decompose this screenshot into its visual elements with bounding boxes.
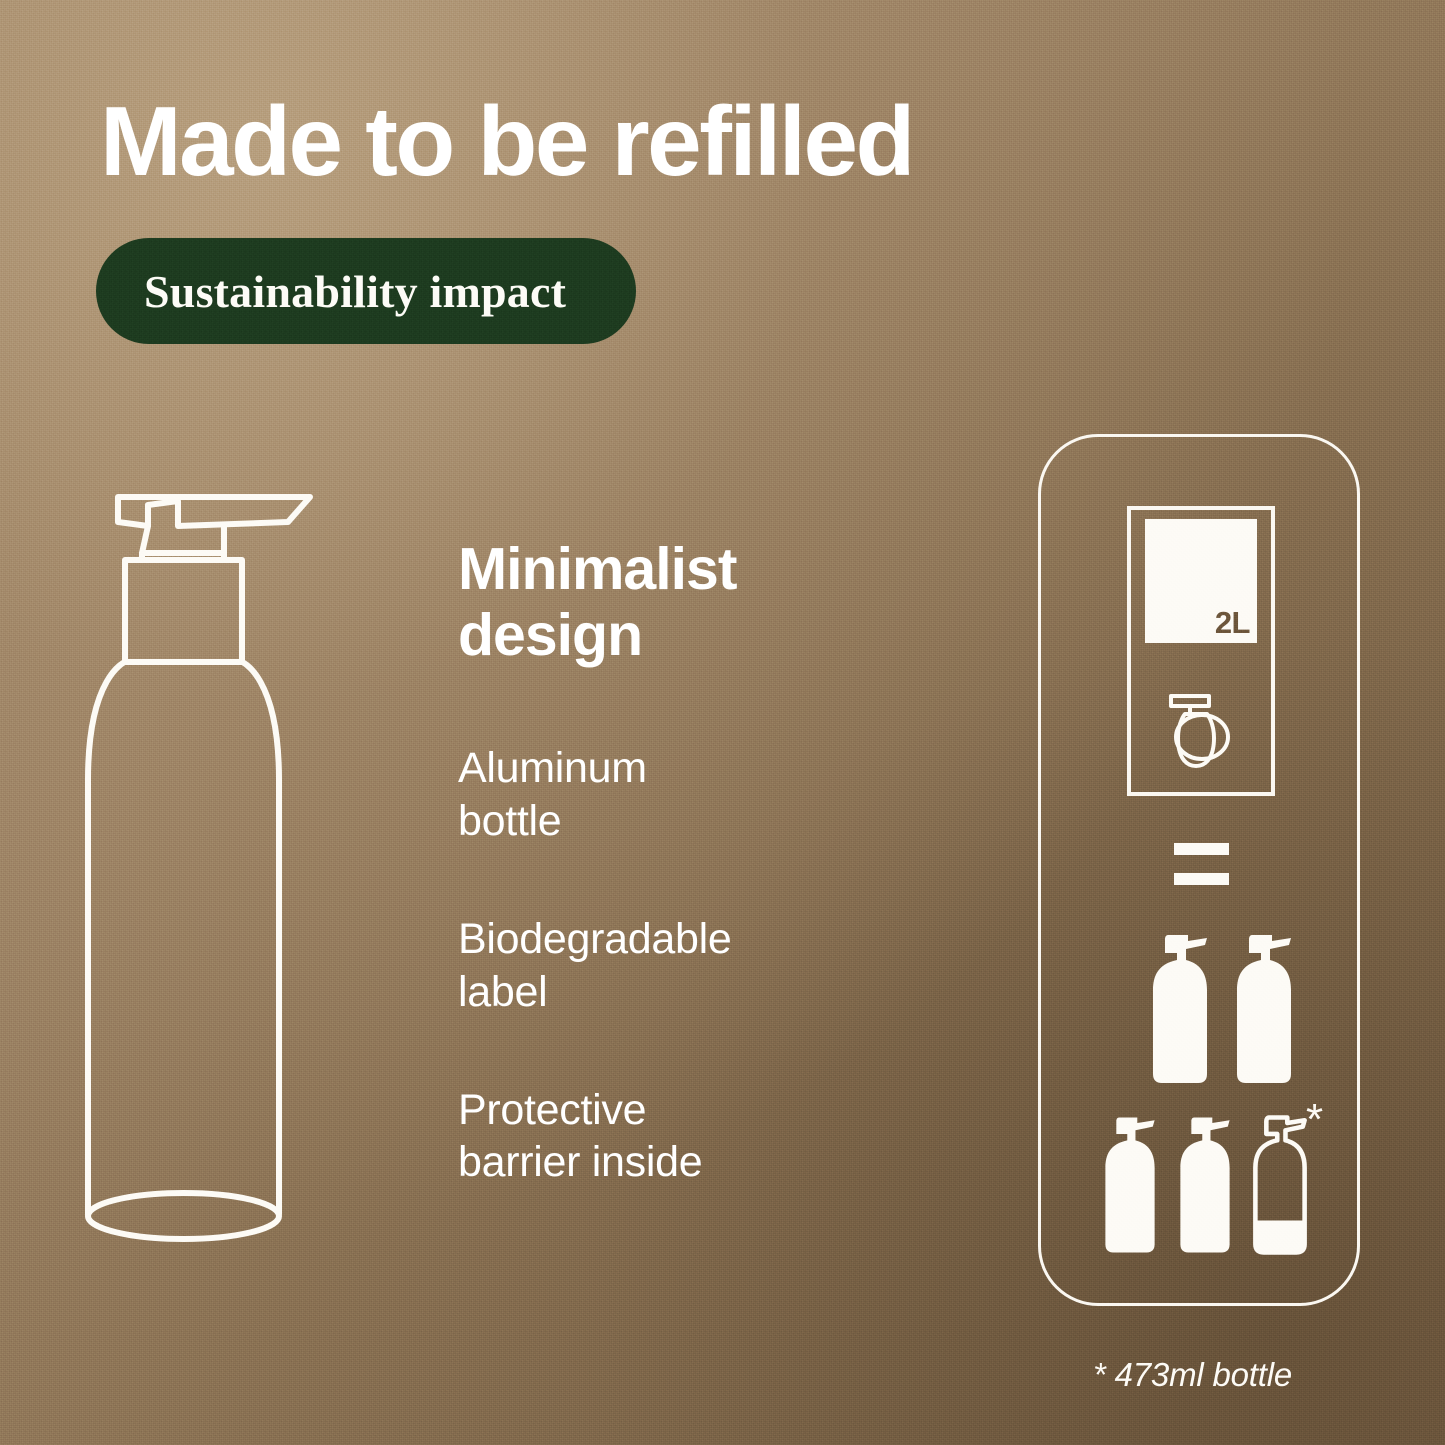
bottle-row-top	[1146, 930, 1298, 1093]
pump-bottle-solid-icon	[1099, 1112, 1161, 1263]
feature-item-line2: label	[458, 968, 547, 1016]
footnote-text: * 473ml bottle	[1093, 1356, 1292, 1394]
feature-item-line2: bottle	[458, 797, 561, 845]
poster-canvas: Made to be refilled Sustainability impac…	[0, 0, 1445, 1445]
pump-bottle-solid-icon	[1230, 930, 1298, 1093]
pump-bottle-solid-icon	[1174, 1112, 1236, 1263]
pump-bottle-partial-icon	[1249, 1112, 1311, 1263]
bottle-row-bottom	[1099, 1112, 1311, 1263]
feature-item-line1: Biodegradable	[458, 915, 731, 963]
sustainability-badge: Sustainability impact	[96, 238, 636, 344]
pump-bottle-outline-icon	[78, 480, 408, 1280]
page-title: Made to be refilled	[100, 92, 1280, 190]
feature-heading-line2: design	[458, 602, 642, 668]
pouch-bottle-glyph-icon	[1163, 690, 1241, 770]
asterisk-marker: *	[1306, 1098, 1323, 1142]
refill-pouch-icon: 2L	[1145, 519, 1257, 643]
sustainability-badge-label: Sustainability impact	[144, 265, 566, 318]
pump-bottle-solid-icon	[1146, 930, 1214, 1093]
equals-sign-icon	[1174, 843, 1229, 885]
feature-list: Minimalist design Aluminum bottle Biodeg…	[458, 536, 848, 1189]
feature-item-line2: barrier inside	[458, 1138, 702, 1186]
feature-item-aluminum-bottle: Aluminum bottle	[458, 742, 848, 847]
feature-item-protective-barrier: Protective barrier inside	[458, 1084, 848, 1189]
feature-heading-line1: Minimalist	[458, 536, 737, 602]
pouch-volume-label: 2L	[1215, 605, 1250, 641]
feature-heading: Minimalist design	[458, 536, 848, 668]
feature-item-line1: Aluminum	[458, 744, 647, 792]
equals-bar-bottom	[1174, 873, 1229, 885]
feature-item-biodegradable-label: Biodegradable label	[458, 913, 848, 1018]
equals-bar-top	[1174, 843, 1229, 855]
feature-item-line1: Protective	[458, 1086, 646, 1134]
